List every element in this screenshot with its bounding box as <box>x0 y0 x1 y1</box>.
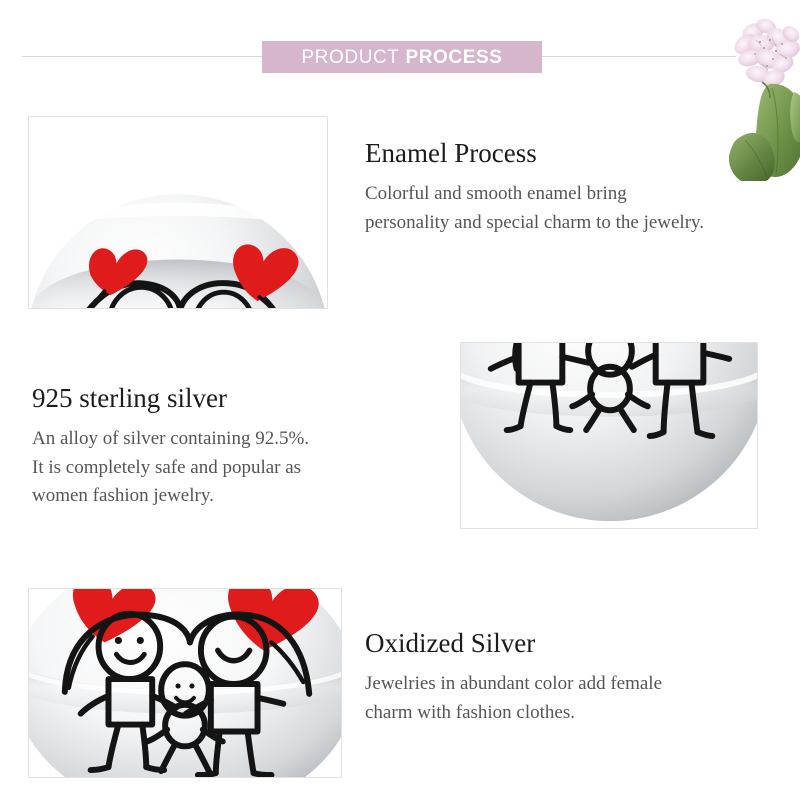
text-block-sterling-silver: 925 sterling silver An alloy of silver c… <box>32 382 432 511</box>
header-rule-right <box>540 56 736 57</box>
product-image-enamel-process <box>28 116 328 309</box>
body-line: It is completely safe and popular as <box>32 454 432 483</box>
header-rule-left <box>22 56 264 57</box>
section-body-sterling-silver: An alloy of silver containing 92.5%. It … <box>32 425 432 511</box>
header-banner: PRODUCT PROCESS <box>262 41 542 73</box>
section-body-enamel-process: Colorful and smooth enamel bring persona… <box>365 180 795 237</box>
header-banner-text: PRODUCT PROCESS <box>301 48 502 67</box>
text-block-oxidized-silver: Oxidized Silver Jewelries in abundant co… <box>365 627 785 727</box>
body-line: An alloy of silver containing 92.5%. <box>32 425 432 454</box>
body-line: women fashion jewelry. <box>32 482 432 511</box>
header-word-product: PRODUCT <box>301 47 399 68</box>
body-line: personality and special charm to the jew… <box>365 209 795 238</box>
section-header: PRODUCT PROCESS <box>0 41 800 73</box>
body-line: Colorful and smooth enamel bring <box>365 180 795 209</box>
product-image-oxidized-silver <box>28 588 342 778</box>
section-title-enamel-process: Enamel Process <box>365 137 795 169</box>
text-block-enamel-process: Enamel Process Colorful and smooth ename… <box>365 137 795 237</box>
header-word-process: PROCESS <box>405 47 502 68</box>
body-line: charm with fashion clothes. <box>365 699 785 728</box>
product-process-page: PRODUCT PROCESS <box>0 0 800 800</box>
body-line: Jewelries in abundant color add female <box>365 670 785 699</box>
section-title-sterling-silver: 925 sterling silver <box>32 382 432 414</box>
product-image-sterling-silver <box>460 342 758 529</box>
section-body-oxidized-silver: Jewelries in abundant color add female c… <box>365 670 785 727</box>
section-title-oxidized-silver: Oxidized Silver <box>365 627 785 659</box>
